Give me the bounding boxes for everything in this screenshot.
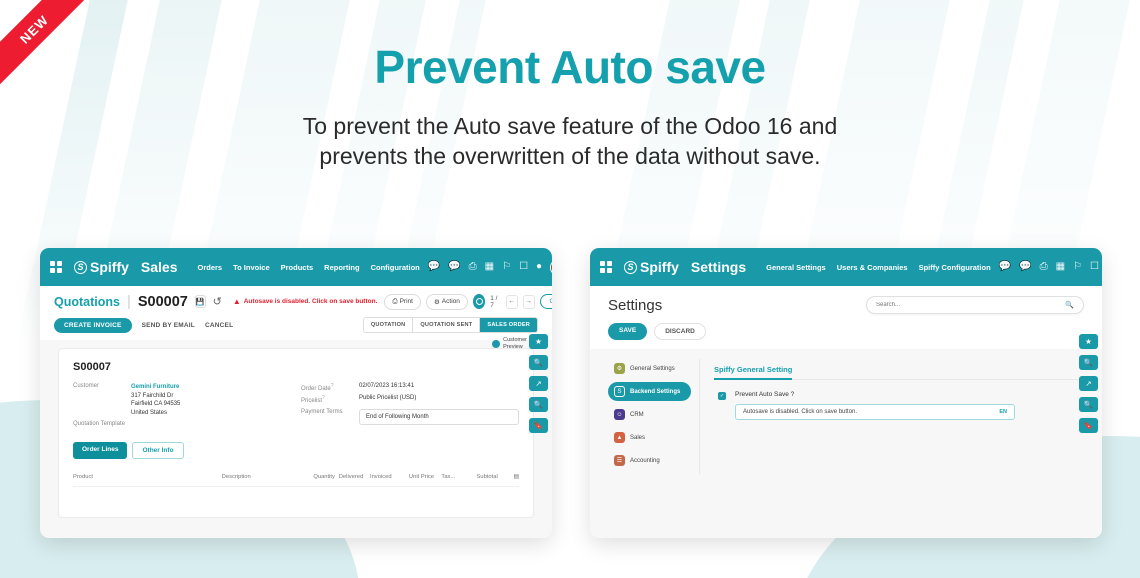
- action-button[interactable]: ⚙ Action: [426, 294, 468, 310]
- left-panel-rail: ★ 🔍 ↗ 🔍 🔖: [529, 334, 548, 433]
- eye-icon: [492, 340, 500, 348]
- nav-item-configuration[interactable]: Configuration: [371, 263, 420, 272]
- nav-item-products[interactable]: Products: [281, 263, 314, 272]
- pricelist-value[interactable]: Public Pricelist (USD): [359, 395, 416, 404]
- sidebar-label-crm: CRM: [630, 412, 644, 418]
- customer-city: Fairfield CA 94535: [131, 400, 180, 409]
- search-icon[interactable]: 🔍: [529, 355, 548, 370]
- expand-icon[interactable]: ↗: [1079, 376, 1098, 391]
- note-icon[interactable]: ☐: [519, 262, 528, 272]
- message-bubble-icon[interactable]: 💬: [428, 262, 440, 272]
- apps-grid-icon[interactable]: [600, 261, 612, 273]
- printer-icon[interactable]: ⎙: [1040, 262, 1048, 272]
- customer-label: Customer: [73, 383, 131, 418]
- page-subtitle: To prevent the Auto save feature of the …: [0, 112, 1140, 172]
- customer-preview-line2: Preview: [503, 344, 523, 350]
- customer-preview-line1: Customer: [503, 337, 527, 343]
- discard-icon[interactable]: ↺: [213, 295, 222, 308]
- settings-header-row: Settings 🔍: [608, 296, 1084, 314]
- sidebar-item-crm[interactable]: ☺ CRM: [608, 405, 691, 424]
- col-unit-price: Unit Price: [392, 474, 434, 480]
- nav-item-to-invoice[interactable]: To Invoice: [233, 263, 270, 272]
- nav-item-general-settings[interactable]: General Settings: [766, 263, 826, 272]
- flag-icon[interactable]: ⚐: [502, 262, 511, 272]
- col-product: Product: [73, 474, 222, 480]
- breadcrumb-row: Quotations | S00007 💾 ↺ ▲ Autosave is di…: [54, 293, 538, 310]
- brand-logo[interactable]: S Spiffy: [74, 259, 129, 275]
- option-prevent-auto-save: ✓ Prevent Auto Save ? Autosave is disabl…: [714, 391, 1084, 420]
- breadcrumb-current: S00007: [138, 294, 188, 310]
- header-block: Prevent Auto save To prevent the Auto sa…: [0, 0, 1140, 172]
- activity-bubble-icon[interactable]: 💬: [448, 262, 460, 272]
- expand-icon[interactable]: ↗: [529, 376, 548, 391]
- odoo-navbar-settings: S Spiffy Settings General Settings Users…: [590, 248, 1102, 286]
- sidebar-item-accounting[interactable]: ☰ Accounting: [608, 451, 691, 470]
- payment-terms-label: Payment Terms: [301, 409, 359, 425]
- lang-badge[interactable]: EN: [999, 409, 1007, 415]
- settings-page-title: Settings: [608, 297, 662, 314]
- pager-label: 1 / 7: [490, 295, 500, 309]
- note-icon[interactable]: ☐: [1090, 262, 1099, 272]
- record-name: S00007: [73, 361, 519, 373]
- customer-street: 317 Fairchild Dr: [131, 392, 180, 401]
- warning-triangle-icon: ▲: [233, 297, 241, 306]
- save-button[interactable]: SAVE: [608, 323, 647, 340]
- brand-name: Spiffy: [90, 259, 129, 275]
- sidebar-label-accounting: Accounting: [630, 458, 660, 464]
- sheet-wrapper: Customer Preview S00007 Customer Gemini …: [40, 340, 552, 518]
- flag-icon[interactable]: ⚐: [1073, 262, 1082, 272]
- column-settings-icon[interactable]: ▤: [498, 474, 519, 480]
- settings-main: ⚙ General Settings S Backend Settings ☺ …: [590, 349, 1102, 474]
- search-icon[interactable]: 🔍: [1065, 301, 1074, 309]
- gear-icon: ⚙: [434, 298, 440, 306]
- nav-item-users-companies[interactable]: Users & Companies: [837, 263, 908, 272]
- quotation-template-label: Quotation Template: [73, 421, 131, 427]
- message-bubble-icon[interactable]: 💬: [999, 262, 1011, 272]
- sidebar-item-backend-settings[interactable]: S Backend Settings: [608, 382, 691, 401]
- order-lines-table-header: Product Description Quantity Delivered I…: [73, 470, 519, 487]
- discard-button[interactable]: DISCARD: [654, 323, 706, 340]
- form-grid: Customer Gemini Furniture 317 Fairchild …: [73, 383, 519, 430]
- settings-content: Spiffy General Setting ✓ Prevent Auto Sa…: [700, 359, 1084, 474]
- navbar-systray: 💬 💬 ⎙ ▦ ⚐ ☐ ●: [428, 259, 552, 276]
- col-invoiced: Invoiced: [363, 474, 391, 480]
- bookmark-icon[interactable]: 🔖: [1079, 418, 1098, 433]
- search-icon[interactable]: 🔍: [1079, 355, 1098, 370]
- brand-logo[interactable]: S Spiffy: [624, 259, 679, 275]
- settings-actions: SAVE DISCARD: [608, 323, 1084, 340]
- send-by-email-button[interactable]: SEND BY EMAIL: [142, 322, 195, 329]
- grid-icon[interactable]: ▦: [1056, 262, 1065, 272]
- check-icon[interactable]: ✓: [718, 392, 726, 400]
- navbar-systray: 💬 💬 ⎙ ▦ ⚐ ☐ ●: [999, 259, 1102, 276]
- subtitle-line-2: prevents the overwritten of the data wit…: [0, 142, 1140, 172]
- grid-icon[interactable]: ▦: [485, 262, 494, 272]
- pager-next-button[interactable]: →: [523, 295, 535, 309]
- form-column-right: Order Date? 02/07/2023 16:13:41 Pricelis…: [301, 383, 519, 430]
- pager-prev-button[interactable]: ←: [506, 295, 518, 309]
- sidebar-label-general-settings: General Settings: [630, 366, 675, 372]
- col-quantity: Quantity: [307, 474, 335, 480]
- star-icon[interactable]: ★: [1079, 334, 1098, 349]
- field-pricelist: Pricelist? Public Pricelist (USD): [301, 395, 519, 404]
- col-delivered: Delivered: [335, 474, 363, 480]
- gear-app-icon: ⚙: [614, 363, 625, 374]
- subtitle-line-1: To prevent the Auto save feature of the …: [0, 112, 1140, 142]
- brand-name: Spiffy: [640, 259, 679, 275]
- print-icon: ⎙: [392, 298, 397, 306]
- section-tab-wrap: Spiffy General Setting: [714, 359, 1084, 380]
- zoom-icon[interactable]: 🔍: [529, 397, 548, 412]
- col-subtotal: Subtotal: [455, 474, 497, 480]
- print-label: Print: [400, 298, 413, 305]
- right-panel-rail: ★ 🔍 ↗ 🔍 🔖: [1079, 334, 1098, 433]
- order-date-label: Order Date: [301, 386, 331, 392]
- cancel-button[interactable]: CANCEL: [205, 322, 233, 329]
- nav-item-orders[interactable]: Orders: [197, 263, 222, 272]
- activity-bubble-icon[interactable]: 💬: [1019, 262, 1031, 272]
- sidebar-label-backend-settings: Backend Settings: [630, 389, 680, 395]
- apps-grid-icon[interactable]: [50, 261, 62, 273]
- settings-search[interactable]: 🔍: [866, 296, 1084, 314]
- nav-menu: Orders To Invoice Products Reporting Con…: [197, 263, 419, 272]
- field-payment-terms: Payment Terms End of Following Month: [301, 409, 519, 425]
- sidebar-item-general-settings[interactable]: ⚙ General Settings: [608, 359, 691, 378]
- autosave-warning: ▲ Autosave is disabled. Click on save bu…: [233, 297, 378, 306]
- star-icon[interactable]: ★: [529, 334, 548, 349]
- nav-item-spiffy-configuration[interactable]: Spiffy Configuration: [919, 263, 991, 272]
- status-quotation-sent[interactable]: QUOTATION SENT: [413, 318, 480, 332]
- tab-other-info[interactable]: Other Info: [132, 442, 183, 459]
- crm-icon: ☺: [614, 409, 625, 420]
- field-quotation-template: Quotation Template: [73, 421, 271, 427]
- col-description: Description: [222, 474, 307, 480]
- page-title: Prevent Auto save: [0, 40, 1140, 94]
- app-name-label: Sales: [141, 259, 178, 275]
- sales-quotation-screenshot: S Spiffy Sales Orders To Invoice Product…: [40, 248, 552, 538]
- pricelist-label: Pricelist: [301, 398, 322, 404]
- record-buttons-row: CREATE INVOICE SEND BY EMAIL CANCEL QUOT…: [54, 317, 538, 340]
- customer-value[interactable]: Gemini Furniture: [131, 383, 180, 392]
- spiffy-icon: S: [614, 386, 625, 397]
- option-message-value: Autosave is disabled. Click on save butt…: [743, 409, 999, 415]
- settings-screenshot: S Spiffy Settings General Settings Users…: [590, 248, 1102, 538]
- customer-preview-button[interactable]: Customer Preview: [492, 337, 527, 351]
- field-customer: Customer Gemini Furniture 317 Fairchild …: [73, 383, 271, 418]
- notebook-tabs: Order Lines Other Info: [73, 442, 519, 459]
- spiffy-mark-icon: S: [624, 261, 637, 274]
- col-tax: Tax...: [434, 474, 455, 480]
- status-sales-order[interactable]: SALES ORDER: [480, 318, 537, 332]
- nav-menu: General Settings Users & Companies Spiff…: [766, 263, 991, 272]
- form-column-left: Customer Gemini Furniture 317 Fairchild …: [73, 383, 271, 430]
- option-label: Prevent Auto Save ?: [735, 391, 1015, 398]
- printer-icon[interactable]: ⎙: [469, 262, 477, 272]
- order-date-value[interactable]: 02/07/2023 16:13:41: [359, 383, 414, 392]
- accounting-icon: ☰: [614, 455, 625, 466]
- spiffy-mark-icon: S: [74, 261, 87, 274]
- print-button[interactable]: ⎙ Print: [384, 294, 421, 310]
- circle-icon[interactable]: [473, 294, 485, 309]
- form-sheet: Customer Preview S00007 Customer Gemini …: [58, 348, 534, 518]
- odoo-navbar-sales: S Spiffy Sales Orders To Invoice Product…: [40, 248, 552, 286]
- search-input[interactable]: [876, 302, 1065, 308]
- sidebar-label-sales: Sales: [630, 435, 645, 441]
- settings-sidebar: ⚙ General Settings S Backend Settings ☺ …: [608, 359, 700, 474]
- pin-icon[interactable]: ●: [536, 262, 542, 272]
- settings-body: Settings 🔍 SAVE DISCARD ⚙ General Settin…: [590, 286, 1102, 538]
- payment-terms-input[interactable]: End of Following Month: [359, 409, 519, 425]
- breadcrumb-separator: |: [127, 293, 131, 310]
- sales-icon: ▲: [614, 432, 625, 443]
- field-order-date: Order Date? 02/07/2023 16:13:41: [301, 383, 519, 392]
- option-message-input[interactable]: Autosave is disabled. Click on save butt…: [735, 404, 1015, 420]
- breadcrumb-root[interactable]: Quotations: [54, 295, 120, 309]
- control-panel: Quotations | S00007 💾 ↺ ▲ Autosave is di…: [40, 286, 552, 340]
- create-button[interactable]: Create: [540, 294, 553, 309]
- avatar[interactable]: [550, 259, 552, 276]
- save-icon[interactable]: 💾: [195, 295, 206, 308]
- tab-order-lines[interactable]: Order Lines: [73, 442, 127, 459]
- app-name-label: Settings: [691, 259, 746, 275]
- bookmark-icon[interactable]: 🔖: [529, 418, 548, 433]
- customer-country: United States: [131, 409, 180, 418]
- settings-header: Settings 🔍 SAVE DISCARD: [590, 286, 1102, 349]
- nav-item-reporting[interactable]: Reporting: [324, 263, 359, 272]
- section-tab-spiffy-general[interactable]: Spiffy General Setting: [714, 365, 792, 380]
- status-bar: QUOTATION QUOTATION SENT SALES ORDER: [363, 317, 538, 333]
- status-quotation[interactable]: QUOTATION: [364, 318, 414, 332]
- create-invoice-button[interactable]: CREATE INVOICE: [54, 318, 132, 333]
- action-label: Action: [442, 298, 460, 305]
- zoom-icon[interactable]: 🔍: [1079, 397, 1098, 412]
- autosave-warning-text: Autosave is disabled. Click on save butt…: [244, 298, 378, 305]
- control-panel-actions: ⎙ Print ⚙ Action 1 / 7 ← → Create: [384, 294, 552, 310]
- sidebar-item-sales[interactable]: ▲ Sales: [608, 428, 691, 447]
